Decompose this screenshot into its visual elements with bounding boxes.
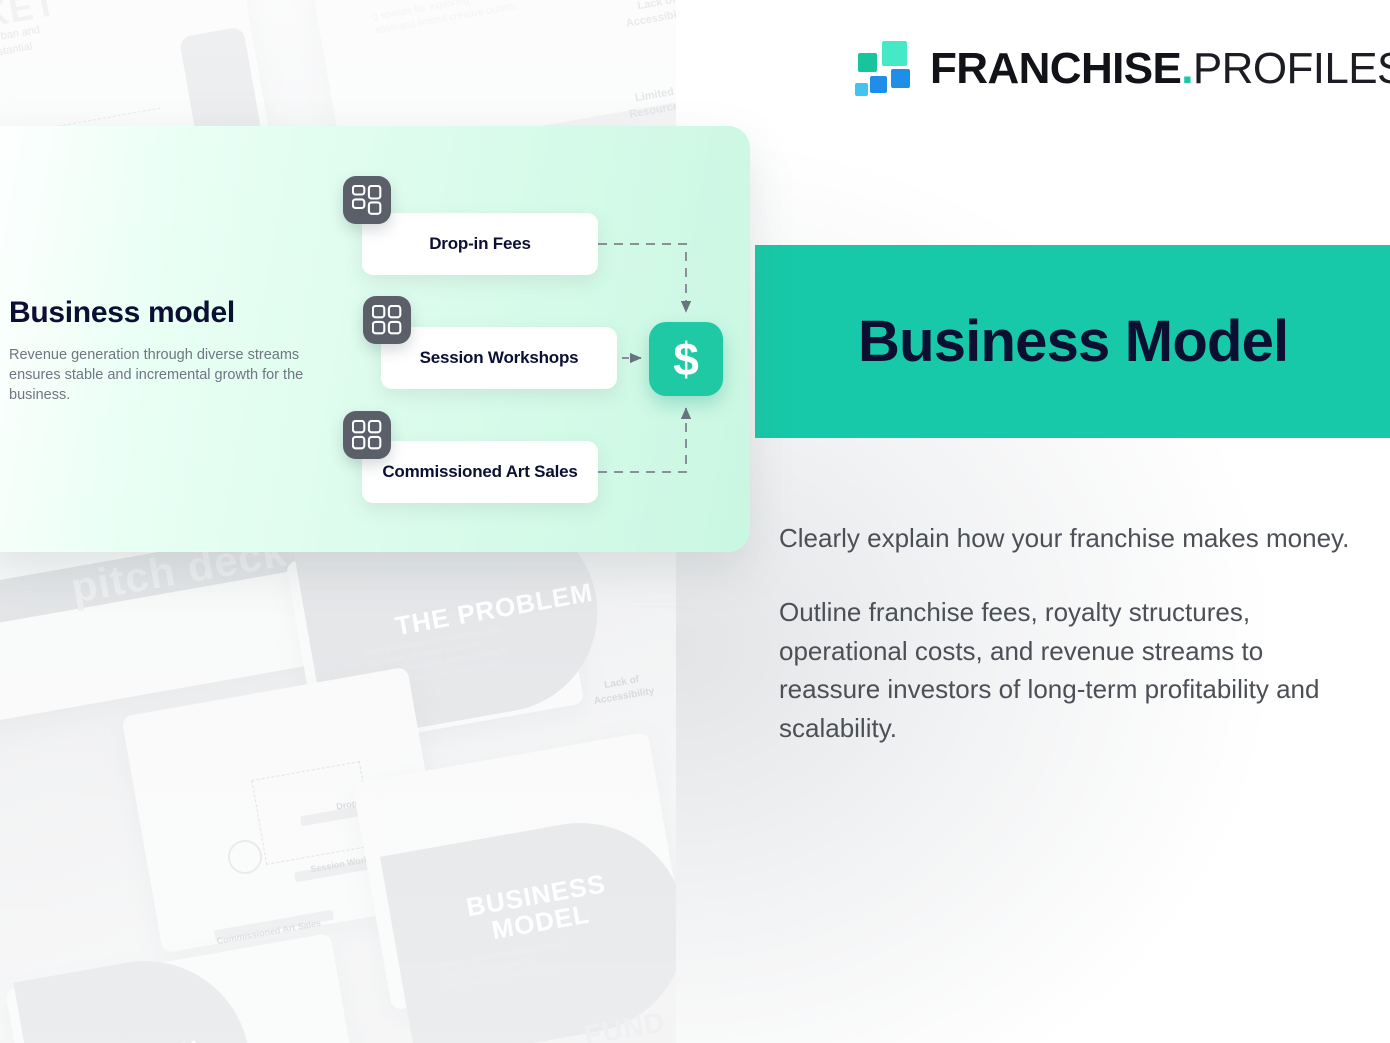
- dollar-symbol: $: [673, 336, 699, 382]
- logo-square-teal-dark: [858, 53, 877, 72]
- logo-square-sky: [855, 83, 868, 96]
- revenue-node-drop-in-fees[interactable]: Drop-in Fees: [362, 213, 598, 275]
- grid-icon: [363, 296, 411, 344]
- right-content-panel: FRANCHISE.PROFILES Business Model Clearl…: [676, 0, 1390, 1043]
- logo-square-blue: [891, 69, 910, 88]
- logo-square-blue-small: [870, 76, 887, 93]
- revenue-node-label: Drop-in Fees: [417, 234, 543, 255]
- brand-name-bold: FRANCHISE: [930, 44, 1181, 93]
- revenue-node-commissioned-art-sales[interactable]: Commissioned Art Sales: [362, 441, 598, 503]
- business-model-slide-card: Business model Revenue generation throug…: [0, 126, 750, 552]
- body-paragraph-2: Outline franchise fees, royalty structur…: [779, 593, 1364, 747]
- page-title: Business Model: [858, 308, 1288, 375]
- squares-logo-icon: [852, 38, 914, 100]
- brand-name-dot: .: [1181, 44, 1193, 93]
- revenue-node-session-workshops[interactable]: Session Workshops: [381, 327, 617, 389]
- slide-canvas: KET ces in urban and n a substantial g s…: [0, 0, 1390, 1043]
- logo-square-teal-light: [882, 41, 907, 66]
- revenue-node-label: Session Workshops: [408, 348, 591, 369]
- connector-dropin-to-hub: [598, 244, 686, 312]
- revenue-node-label: Commissioned Art Sales: [370, 462, 589, 483]
- connector-commissioned-to-hub: [598, 408, 686, 472]
- section-body-copy: Clearly explain how your franchise makes…: [779, 519, 1364, 747]
- brand-name-light: PROFILES: [1193, 44, 1390, 93]
- revenue-streams-diagram: Drop-in Fees Session Workshops: [0, 126, 750, 552]
- bg-icon-label-accessibility-2: Lack of Accessibility: [576, 668, 669, 711]
- brand-logo: FRANCHISE.PROFILES: [852, 38, 1390, 100]
- body-paragraph-1: Clearly explain how your franchise makes…: [779, 519, 1364, 557]
- section-title-band: Business Model: [755, 245, 1390, 438]
- grid-icon: [343, 176, 391, 224]
- grid-icon: [343, 411, 391, 459]
- dollar-icon: $: [649, 322, 723, 396]
- brand-wordmark: FRANCHISE.PROFILES: [930, 47, 1390, 91]
